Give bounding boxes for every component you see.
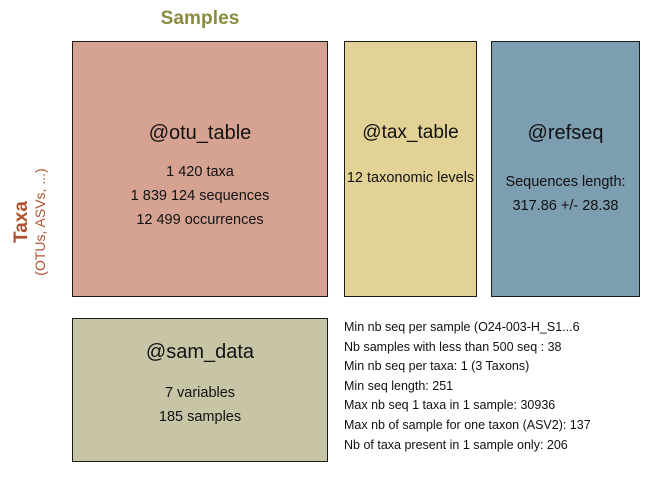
figure-canvas: Samples Taxa (OTUs, ASVs, ...) @otu_tabl…: [0, 0, 672, 480]
refseq-title: @refseq: [492, 122, 639, 145]
refseq-stat-value: 317.86 +/- 28.38: [492, 194, 639, 218]
taxa-axis-label-main: Taxa: [12, 107, 32, 337]
summary-line-min-nb-seq-per-sample: Min nb seq per sample (O24-003-H_S1...6: [344, 318, 664, 338]
otu-table-title: @otu_table: [73, 122, 327, 145]
summary-line-max-nb-sample-one-taxon: Max nb of sample for one taxon (ASV2): 1…: [344, 416, 664, 436]
summary-line-nb-samples-less-500: Nb samples with less than 500 seq : 38: [344, 338, 664, 358]
otu-table-stat-sequences: 1 839 124 sequences: [73, 184, 327, 208]
taxa-axis-label-sub: (OTUs, ASVs, ...): [33, 107, 48, 337]
tax-table-stats: 12 taxonomic levels: [345, 166, 476, 190]
sam-data-stats: 7 variables 185 samples: [73, 381, 327, 429]
sam-data-title: @sam_data: [73, 341, 327, 364]
samples-axis-label: Samples: [72, 8, 328, 30]
tax-table-stat-levels: 12 taxonomic levels: [345, 166, 476, 190]
summary-line-min-seq-length: Min seq length: 251: [344, 377, 664, 397]
otu-table-stat-occurrences: 12 499 occurrences: [73, 208, 327, 232]
summary-line-taxa-present-1-sample: Nb of taxa present in 1 sample only: 206: [344, 436, 664, 456]
otu-table-stats: 1 420 taxa 1 839 124 sequences 12 499 oc…: [73, 160, 327, 232]
refseq-stats: Sequences length: 317.86 +/- 28.38: [492, 170, 639, 218]
summary-line-max-nb-seq-1-taxa: Max nb seq 1 taxa in 1 sample: 30936: [344, 396, 664, 416]
refseq-stat-label: Sequences length:: [492, 170, 639, 194]
otu-table-stat-taxa: 1 420 taxa: [73, 160, 327, 184]
sam-data-stat-variables: 7 variables: [73, 381, 327, 405]
sam-data-stat-samples: 185 samples: [73, 405, 327, 429]
summary-statistics-list: Min nb seq per sample (O24-003-H_S1...6 …: [344, 318, 664, 455]
summary-line-min-nb-seq-per-taxa: Min nb seq per taxa: 1 (3 Taxons): [344, 357, 664, 377]
refseq-box: @refseq Sequences length: 317.86 +/- 28.…: [491, 41, 640, 297]
tax-table-title: @tax_table: [345, 122, 476, 144]
tax-table-box: @tax_table 12 taxonomic levels: [344, 41, 477, 297]
otu-table-box: @otu_table 1 420 taxa 1 839 124 sequence…: [72, 41, 328, 297]
taxa-axis-label: Taxa (OTUs, ASVs, ...): [12, 107, 72, 337]
sam-data-box: @sam_data 7 variables 185 samples: [72, 318, 328, 462]
